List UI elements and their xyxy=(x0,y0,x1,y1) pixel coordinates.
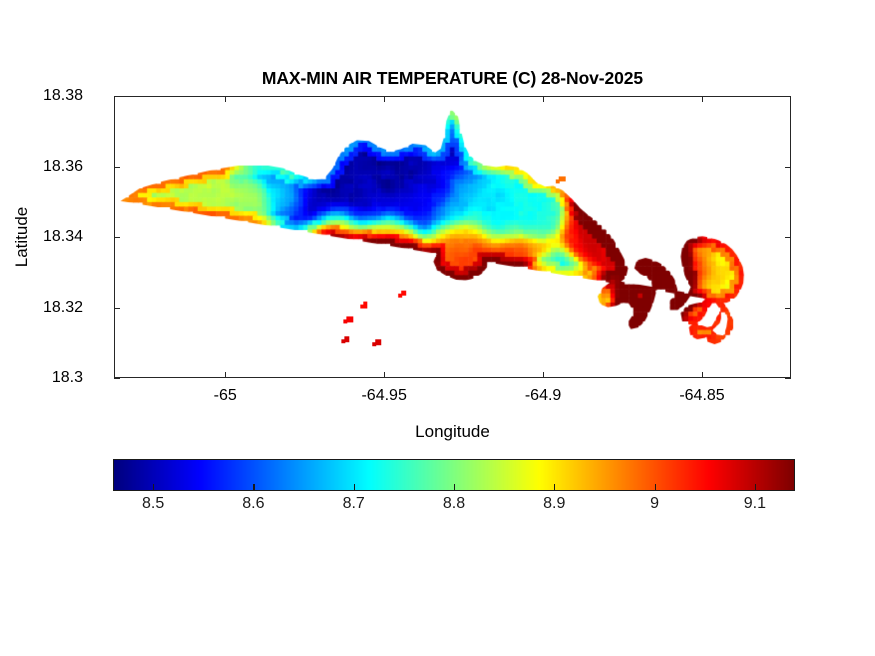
map-axes xyxy=(114,96,791,378)
y-axis-label-text: Latitude xyxy=(12,207,32,268)
figure-canvas: MAX-MIN AIR TEMPERATURE (C) 28-Nov-2025 … xyxy=(0,0,875,656)
x-tick-label: -64.95 xyxy=(361,387,406,405)
y-tick-label: 18.32 xyxy=(43,299,83,317)
colorbar-tick-label: 9.1 xyxy=(744,495,766,513)
colorbar-tick-label: 8.5 xyxy=(142,495,164,513)
y-tick xyxy=(114,96,120,97)
colorbar-tick xyxy=(655,484,656,491)
y-tick-label: 18.3 xyxy=(52,369,83,387)
temperature-heatmap xyxy=(115,97,790,377)
y-tick xyxy=(785,308,791,309)
colorbar-tick xyxy=(454,484,455,491)
colorbar-tick-label: 8.6 xyxy=(242,495,264,513)
y-tick xyxy=(114,308,120,309)
y-tick xyxy=(785,167,791,168)
y-tick-label: 18.36 xyxy=(43,158,83,176)
x-tick xyxy=(702,372,703,378)
y-tick xyxy=(785,96,791,97)
x-tick xyxy=(384,372,385,378)
y-tick xyxy=(785,237,791,238)
y-tick xyxy=(114,237,120,238)
colorbar-tick-label: 8.8 xyxy=(443,495,465,513)
colorbar-tick xyxy=(554,484,555,491)
x-tick-label: -65 xyxy=(214,387,237,405)
colorbar-tick xyxy=(253,484,254,491)
x-axis-label: Longitude xyxy=(114,422,791,442)
colorbar-container xyxy=(113,459,795,491)
colorbar-tick-label: 9 xyxy=(650,495,659,513)
colorbar-tick-label: 8.9 xyxy=(543,495,565,513)
y-tick xyxy=(785,378,791,379)
y-tick xyxy=(114,378,120,379)
colorbar-tick xyxy=(354,484,355,491)
x-tick xyxy=(225,96,226,102)
x-tick-label: -64.85 xyxy=(679,387,724,405)
x-tick xyxy=(543,372,544,378)
x-tick xyxy=(384,96,385,102)
y-tick-label: 18.34 xyxy=(43,228,83,246)
x-tick xyxy=(543,96,544,102)
x-tick-label: -64.9 xyxy=(525,387,561,405)
x-tick xyxy=(225,372,226,378)
colorbar-tick xyxy=(755,484,756,491)
colorbar-tick-label: 8.7 xyxy=(343,495,365,513)
y-tick-label: 18.38 xyxy=(43,87,83,105)
x-tick xyxy=(702,96,703,102)
page-title: MAX-MIN AIR TEMPERATURE (C) 28-Nov-2025 xyxy=(114,68,791,89)
colorbar-tick xyxy=(153,484,154,491)
y-tick xyxy=(114,167,120,168)
